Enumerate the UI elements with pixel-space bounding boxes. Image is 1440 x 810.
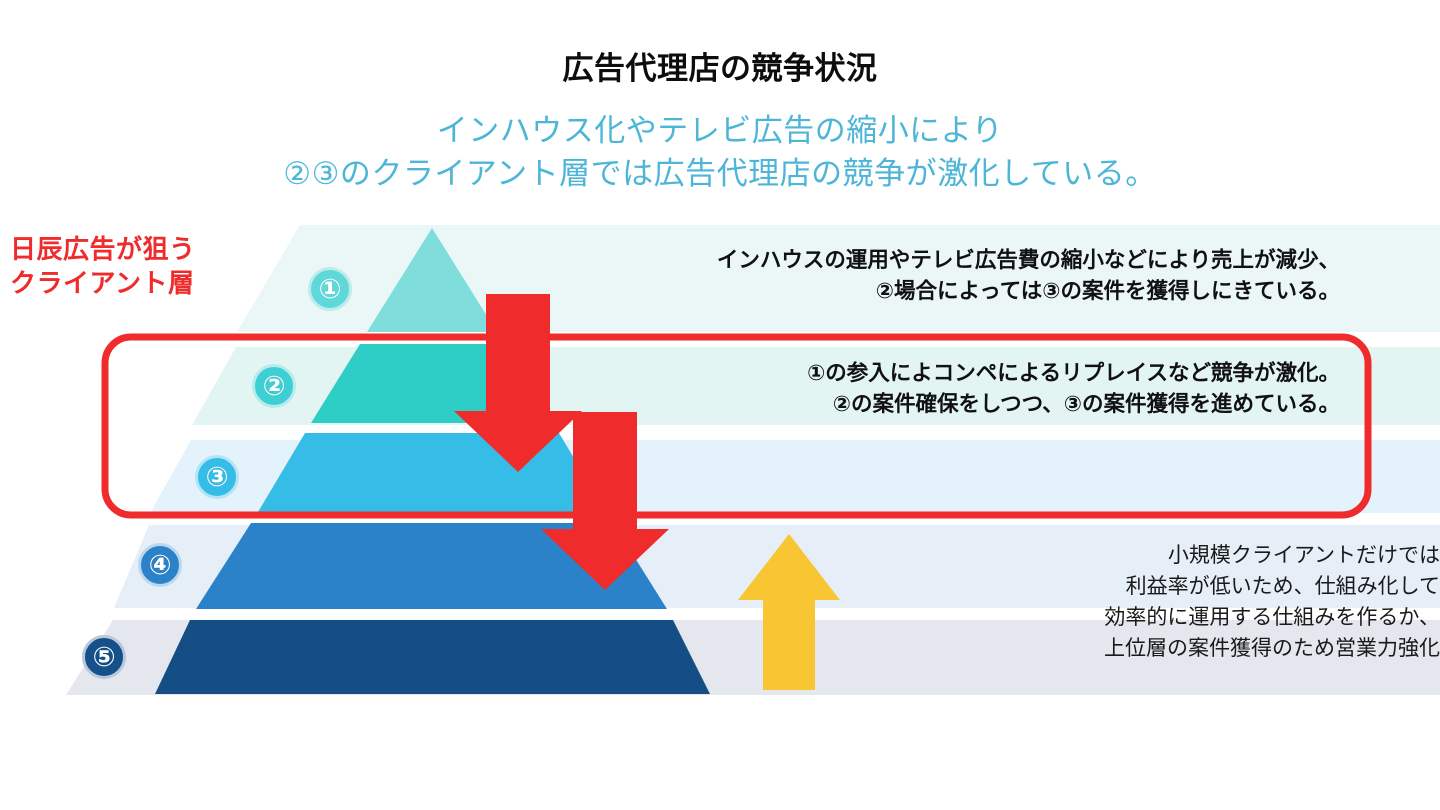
slide-canvas: 広告代理店の競争状況 インハウス化やテレビ広告の縮小により ②③のクライアント層… [0,0,1440,810]
pyramid-tier-3 [258,433,606,512]
note-tier-2-3: ①の参入によコンペによるリプレイスなど競争が激化。 ②の案件確保をしつつ、③の案… [540,358,1340,420]
tier-badge-4: ④ [138,543,182,587]
tier-badge-1: ① [308,267,352,311]
note-tier-4-5: 小規模クライアントだけでは 利益率が低いため、仕組み化して 効率的に運用する仕組… [880,541,1440,664]
tier-badge-2: ② [252,364,296,408]
pyramid-tier-5 [155,620,710,694]
tier-badge-5: ⑤ [82,635,126,679]
note-tier-1: インハウスの運用やテレビ広告費の縮小などにより売上が減少、 ②場合によっては③の… [500,245,1340,307]
tier-badge-3: ③ [195,455,239,499]
